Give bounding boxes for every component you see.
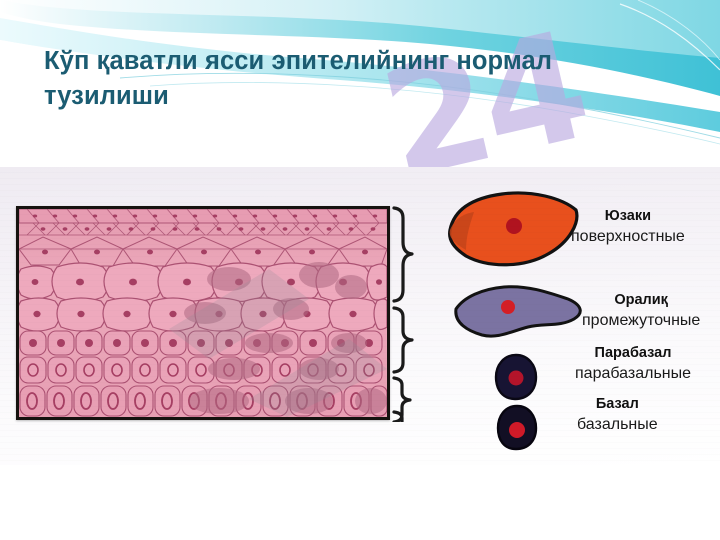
label-parabasal: Парабазал парабазальные: [575, 344, 691, 384]
intermediate-cell-figure: [452, 279, 584, 345]
label-parabasal-uz: Парабазал: [575, 344, 691, 363]
label-superficial: Юзаки поверхностные: [571, 207, 685, 247]
slide: 24 H Кўп қаватли ясси эпителийнинг норма…: [0, 0, 720, 540]
superficial-cell-figure: [444, 184, 584, 274]
label-basal: Базал базальные: [577, 395, 658, 435]
label-basal-uz: Базал: [577, 395, 658, 414]
content-panel: Юзаки поверхностные Оралиқ промежуточные…: [0, 167, 720, 465]
epithelium-histology-diagram: [16, 206, 390, 420]
label-intermediate: Оралиқ промежуточные: [582, 291, 700, 331]
label-intermediate-ru: промежуточные: [582, 310, 700, 331]
slide-title: Кўп қаватли ясси эпителийнинг нормал туз…: [44, 44, 684, 114]
label-superficial-ru: поверхностные: [571, 226, 685, 247]
label-intermediate-uz: Оралиқ: [582, 291, 700, 310]
label-superficial-uz: Юзаки: [571, 207, 685, 226]
label-basal-ru: базальные: [577, 414, 658, 435]
basal-cell-figure: [494, 403, 540, 453]
label-parabasal-ru: парабазальные: [575, 363, 691, 384]
layer-brace-group: [388, 200, 422, 422]
parabasal-cell-figure: [492, 351, 540, 403]
